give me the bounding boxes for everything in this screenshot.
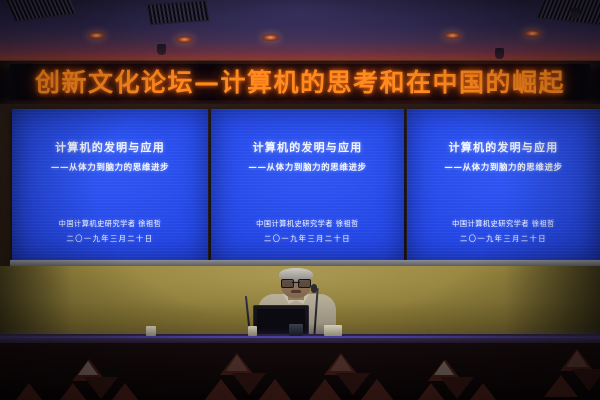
desk-item-box bbox=[289, 324, 303, 336]
led-banner: 创新文化论坛—计算机的思考和在中国的崛起 bbox=[10, 64, 590, 100]
microphone-head bbox=[311, 284, 317, 293]
desk-item-cup bbox=[248, 326, 257, 336]
facet-triangle bbox=[78, 361, 98, 375]
slide-date: 二〇一九年三月二十日 bbox=[67, 234, 154, 244]
slide-title: 计算机的发明与应用 bbox=[55, 139, 165, 155]
facet-triangle bbox=[204, 379, 238, 400]
podium-edge-light bbox=[0, 336, 600, 338]
slide-author: 中国计算机史研究学者 徐祖哲 bbox=[59, 219, 162, 229]
slide-author: 中国计算机史研究学者 徐祖哲 bbox=[452, 219, 555, 229]
facet-triangle bbox=[108, 383, 142, 400]
ceiling-spotlight bbox=[571, 8, 580, 19]
ceiling-downlight bbox=[444, 32, 461, 39]
speaker-mouth bbox=[291, 290, 301, 293]
ceiling-spotlight bbox=[157, 44, 166, 55]
slide-subtitle: ——从体力到脑力的思维进步 bbox=[444, 161, 562, 173]
ceiling-downlight bbox=[524, 30, 541, 37]
facet-triangle bbox=[466, 383, 500, 400]
ceiling-downlight bbox=[88, 32, 105, 39]
slide-content-center: 计算机的发明与应用 ——从体力到脑力的思维进步 中国计算机史研究学者 徐祖哲 二… bbox=[211, 109, 404, 262]
banner-title-text: 创新文化论坛—计算机的思考和在中国的崛起 bbox=[35, 70, 565, 95]
slide-date: 二〇一九年三月二十日 bbox=[460, 234, 547, 244]
projection-screen-center: 计算机的发明与应用 ——从体力到脑力的思维进步 中国计算机史研究学者 徐祖哲 二… bbox=[211, 109, 404, 262]
ceiling-spotlight bbox=[495, 48, 504, 59]
facet-triangle bbox=[544, 375, 578, 397]
slide-date: 二〇一九年三月二十日 bbox=[264, 234, 351, 244]
slide-author: 中国计算机史研究学者 徐祖哲 bbox=[256, 219, 359, 229]
slide-subtitle: ——从体力到脑力的思维进步 bbox=[248, 161, 366, 173]
facet-triangle bbox=[308, 379, 342, 400]
desk-item-cup bbox=[146, 326, 156, 336]
facet-triangle bbox=[56, 383, 90, 400]
projection-screen-right: 计算机的发明与应用 ——从体力到脑力的思维进步 中国计算机史研究学者 徐祖哲 二… bbox=[407, 109, 600, 262]
glasses-lens-right bbox=[298, 279, 311, 288]
slide-title: 计算机的发明与应用 bbox=[449, 139, 559, 155]
facet-triangle bbox=[12, 383, 46, 400]
facet-triangle bbox=[330, 355, 352, 371]
glasses-lens-left bbox=[281, 279, 294, 288]
facet-triangle bbox=[226, 355, 248, 371]
facet-triangle bbox=[566, 351, 588, 367]
podium-facet-pattern bbox=[0, 343, 600, 400]
glasses-icon bbox=[281, 279, 311, 286]
projection-screen-left: 计算机的发明与应用 ——从体力到脑力的思维进步 中国计算机史研究学者 徐祖哲 二… bbox=[12, 109, 208, 262]
screen-seam bbox=[404, 109, 406, 262]
slide-content-left: 计算机的发明与应用 ——从体力到脑力的思维进步 中国计算机史研究学者 徐祖哲 二… bbox=[12, 109, 208, 262]
ceiling-downlight bbox=[176, 36, 193, 43]
desk-item-small bbox=[427, 330, 431, 334]
ceiling-downlight bbox=[262, 34, 279, 41]
slide-title: 计算机的发明与应用 bbox=[253, 139, 363, 155]
slide-subtitle: ——从体力到脑力的思维进步 bbox=[51, 161, 169, 173]
ceiling-air-vent bbox=[147, 0, 210, 25]
facet-triangle bbox=[414, 383, 448, 400]
facet-triangle bbox=[258, 379, 292, 400]
desk-item-cup bbox=[324, 325, 342, 336]
facet-triangle bbox=[434, 361, 454, 375]
conference-hall-photo: 创新文化论坛—计算机的思考和在中国的崛起 计算机的发明与应用 ——从体力到脑力的… bbox=[0, 0, 600, 400]
projection-screen-array: 计算机的发明与应用 ——从体力到脑力的思维进步 中国计算机史研究学者 徐祖哲 二… bbox=[12, 109, 600, 262]
slide-content-right: 计算机的发明与应用 ——从体力到脑力的思维进步 中国计算机史研究学者 徐祖哲 二… bbox=[407, 109, 600, 262]
screen-seam bbox=[209, 109, 211, 262]
facet-triangle bbox=[360, 379, 394, 400]
